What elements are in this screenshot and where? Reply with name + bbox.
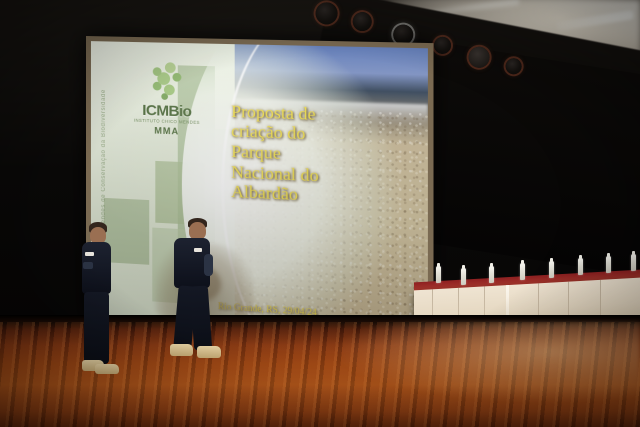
water-bottle [436, 266, 441, 283]
water-bottle [578, 258, 583, 275]
water-bottle [489, 266, 494, 283]
slide-title: Proposta de criação do Parque Nacional d… [231, 101, 417, 211]
water-bottle [549, 261, 554, 278]
projected-slide: ICMBio INSTITUTO CHICO MENDES MMA Instit… [91, 41, 428, 343]
shoulder-patch [85, 252, 94, 256]
water-bottle [461, 268, 466, 285]
stage-lamp-icon [433, 36, 452, 55]
boot [95, 364, 119, 374]
stage-lamp-icon [314, 1, 339, 26]
stage-lamp-icon [467, 45, 491, 69]
boot [197, 346, 221, 358]
icmbio-logo: ICMBio INSTITUTO CHICO MENDES MMA [113, 58, 221, 137]
officer-left [75, 222, 121, 390]
arm-sleeve [204, 254, 213, 276]
floor-reflection [220, 322, 640, 427]
stage-lamp-icon [351, 11, 373, 33]
water-bottle [520, 263, 525, 280]
officer-right [168, 218, 224, 370]
shoulder-patch [194, 248, 202, 252]
boot [170, 344, 193, 356]
projection-screen-frame: ICMBio INSTITUTO CHICO MENDES MMA Instit… [86, 36, 434, 349]
legs-trousers [84, 292, 109, 364]
brazil-map-foliage-icon [143, 59, 190, 103]
water-bottle [606, 256, 611, 273]
water-bottle [631, 254, 636, 271]
photo-scene: ICMBio INSTITUTO CHICO MENDES MMA Instit… [0, 0, 640, 427]
leg-front [190, 285, 212, 350]
arm-sleeve [83, 262, 93, 269]
stage-lamp-icon [504, 57, 522, 75]
